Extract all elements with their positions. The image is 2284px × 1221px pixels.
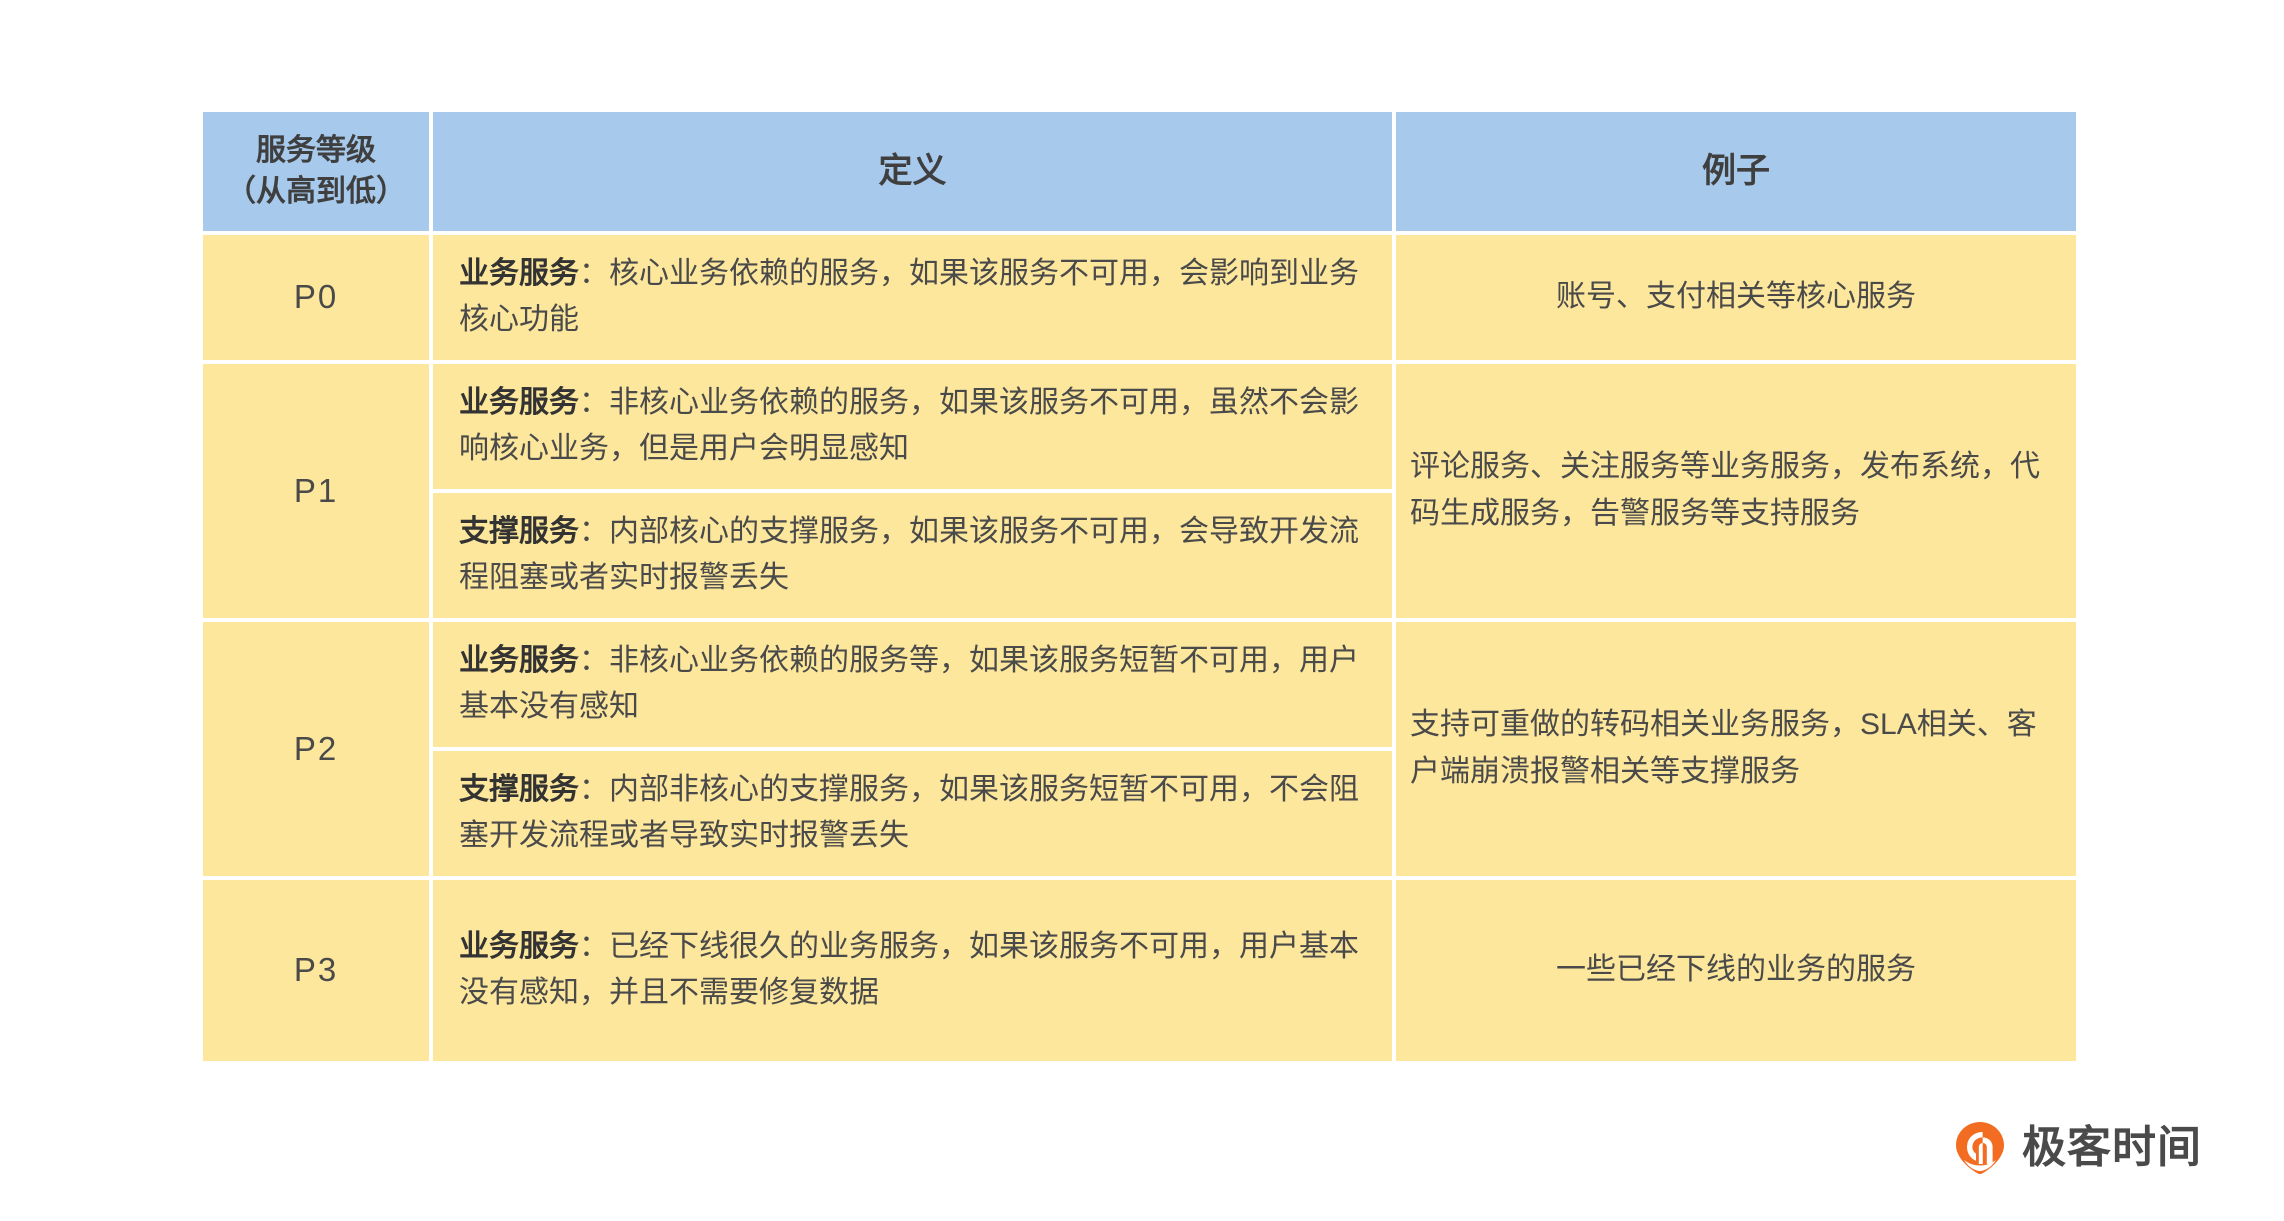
definition-separator: ： [579,386,609,419]
definition-separator: ： [579,644,609,677]
column-header-level: 服务等级 （从高到低） [203,112,433,231]
definition-kind: 业务服务 [459,930,579,963]
cell-example: 账号、支付相关等核心服务 [1396,231,2076,360]
table-row: P1 业务服务：非核心业务依赖的服务，如果该服务不可用，虽然不会影响核心业务，但… [203,360,2076,618]
definition-kind: 业务服务 [459,644,579,677]
cell-level: P2 [203,618,433,876]
cell-level: P1 [203,360,433,618]
column-header-definition: 定义 [433,112,1396,231]
definition-block: 业务服务：核心业务依赖的服务，如果该服务不可用，会影响到业务核心功能 [433,235,1392,360]
cell-definition: 业务服务：非核心业务依赖的服务，如果该服务不可用，虽然不会影响核心业务，但是用户… [433,360,1396,618]
definition-block: 业务服务：非核心业务依赖的服务等，如果该服务短暂不可用，用户基本没有感知 [433,622,1392,747]
definition-kind: 业务服务 [459,386,579,419]
definition-separator: ： [579,257,609,290]
cell-definition: 业务服务：已经下线很久的业务服务，如果该服务不可用，用户基本没有感知，并且不需要… [433,876,1396,1061]
cell-example: 评论服务、关注服务等业务服务，发布系统，代码生成服务，告警服务等支持服务 [1396,360,2076,618]
cell-level: P3 [203,876,433,1061]
cell-example: 一些已经下线的业务的服务 [1396,876,2076,1061]
definition-separator: ： [579,515,609,548]
cell-example: 支持可重做的转码相关业务服务，SLA相关、客户端崩溃报警相关等支撑服务 [1396,618,2076,876]
table-header-row: 服务等级 （从高到低） 定义 例子 [203,112,2076,231]
table-header: 服务等级 （从高到低） 定义 例子 [203,112,2076,231]
definition-separator: ： [579,930,609,963]
slide-canvas: 服务等级 （从高到低） 定义 例子 P0 业务服务：核心业务依赖的服务，如果该服… [0,0,2284,1221]
column-header-level-line1: 服务等级 [213,130,419,171]
cell-definition: 业务服务：非核心业务依赖的服务等，如果该服务短暂不可用，用户基本没有感知 支撑服… [433,618,1396,876]
definition-kind: 支撑服务 [459,515,579,548]
definition-block: 业务服务：非核心业务依赖的服务，如果该服务不可用，虽然不会影响核心业务，但是用户… [433,364,1392,489]
column-header-level-line2: （从高到低） [213,171,419,212]
table-body: P0 业务服务：核心业务依赖的服务，如果该服务不可用，会影响到业务核心功能 账号… [203,231,2076,1061]
definition-block: 业务服务：已经下线很久的业务服务，如果该服务不可用，用户基本没有感知，并且不需要… [433,880,1392,1061]
geektime-pin-icon [1952,1120,2008,1176]
service-level-table: 服务等级 （从高到低） 定义 例子 P0 业务服务：核心业务依赖的服务，如果该服… [203,112,2076,1061]
definition-separator: ： [579,773,609,806]
brand-logo-text: 极客时间 [2022,1126,2202,1170]
definition-block: 支撑服务：内部非核心的支撑服务，如果该服务短暂不可用，不会阻塞开发流程或者导致实… [433,747,1392,876]
table-row: P0 业务服务：核心业务依赖的服务，如果该服务不可用，会影响到业务核心功能 账号… [203,231,2076,360]
table-row: P2 业务服务：非核心业务依赖的服务等，如果该服务短暂不可用，用户基本没有感知 … [203,618,2076,876]
column-header-example: 例子 [1396,112,2076,231]
definition-block: 支撑服务：内部核心的支撑服务，如果该服务不可用，会导致开发流程阻塞或者实时报警丢… [433,489,1392,618]
table-row: P3 业务服务：已经下线很久的业务服务，如果该服务不可用，用户基本没有感知，并且… [203,876,2076,1061]
cell-level: P0 [203,231,433,360]
brand-logo: 极客时间 [1952,1120,2202,1176]
definition-kind: 业务服务 [459,257,579,290]
definition-kind: 支撑服务 [459,773,579,806]
cell-definition: 业务服务：核心业务依赖的服务，如果该服务不可用，会影响到业务核心功能 [433,231,1396,360]
